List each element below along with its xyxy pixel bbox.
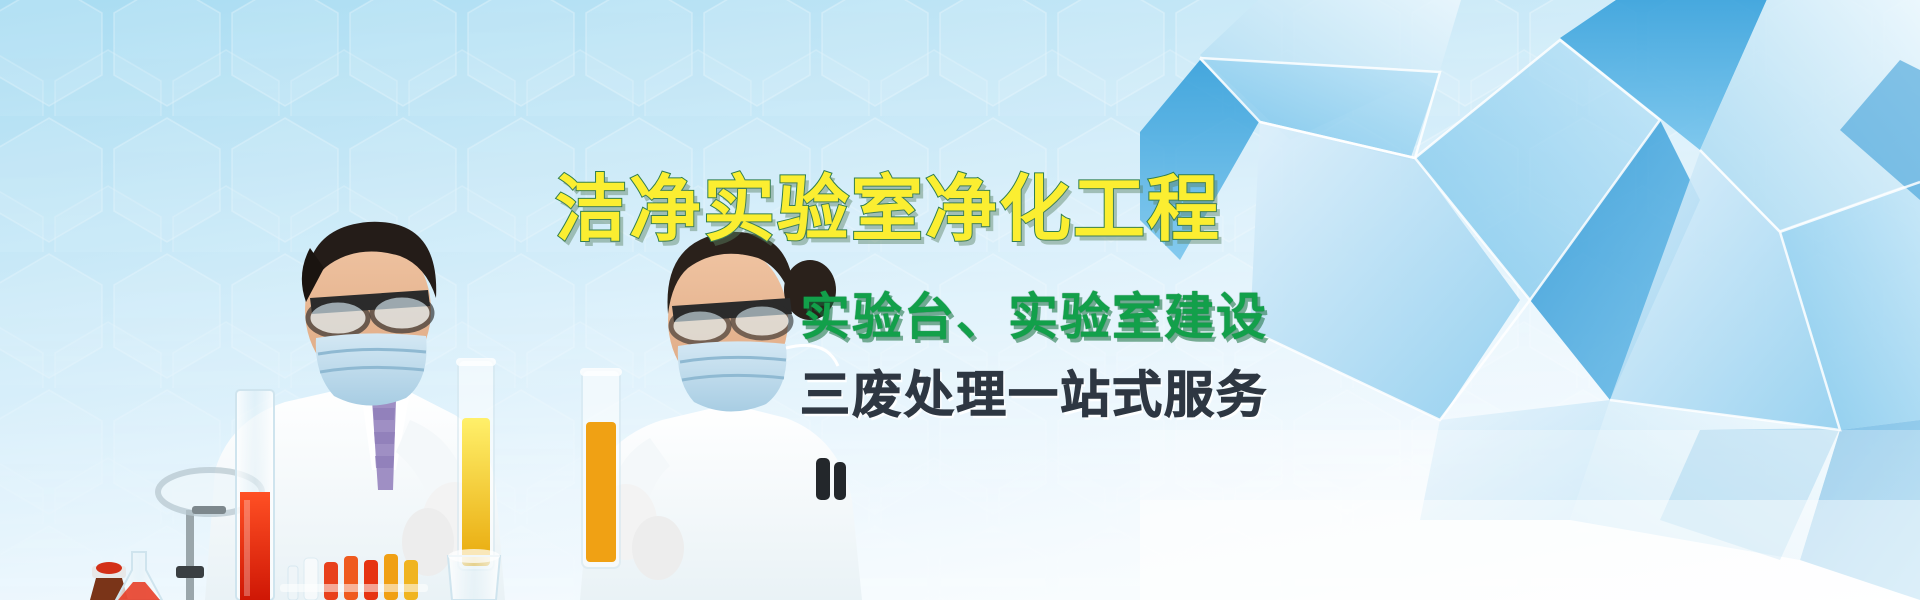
subtitle-outline-text: 三废处理一站式服务 (800, 368, 1268, 422)
promo-banner: 洁净实验室净化工程 实验台、实验室建设 三废处理一站式服务 (0, 0, 1920, 600)
headline-text: 洁净实验室净化工程 (555, 172, 1221, 248)
banner-copy: 洁净实验室净化工程 实验台、实验室建设 三废处理一站式服务 (0, 0, 1920, 600)
subtitle-green-text: 实验台、实验室建设 (800, 290, 1268, 344)
